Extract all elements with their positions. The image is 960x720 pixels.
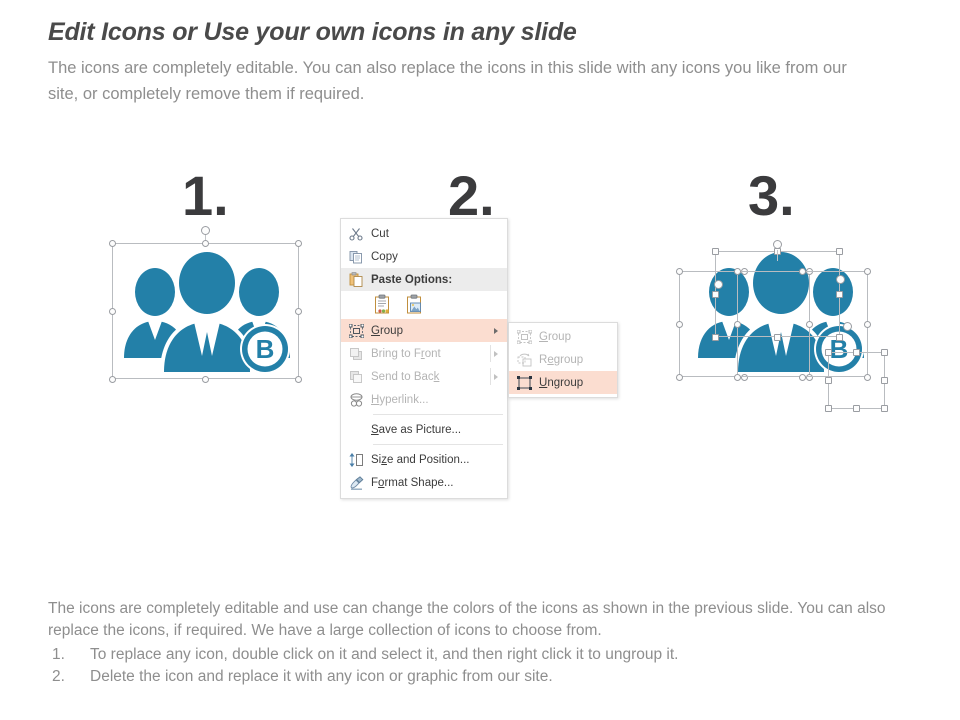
resize-handle-shape[interactable] (799, 374, 806, 381)
list-item-text: To replace any icon, double click on it … (90, 646, 678, 663)
chevron-right-icon (494, 374, 498, 380)
resize-handle-badge[interactable] (825, 405, 832, 412)
submenu-item-ungroup[interactable]: Ungroup (509, 371, 617, 394)
resize-handle-badge[interactable] (881, 377, 888, 384)
regroup-icon (509, 353, 539, 367)
menu-divider (373, 444, 503, 445)
slide-canvas: Edit Icons or Use your own icons in any … (0, 0, 960, 720)
page-subtitle: The icons are completely editable. You c… (48, 56, 878, 107)
menu-item-format-shape[interactable]: Format Shape... (341, 471, 507, 494)
menu-item-label: Cut (371, 228, 503, 240)
resize-handle-shape[interactable] (712, 248, 719, 255)
rotation-handle[interactable] (843, 322, 852, 331)
copy-icon (341, 250, 371, 264)
resize-handle-badge[interactable] (881, 405, 888, 412)
footer-list: 1. To replace any icon, double click on … (48, 644, 933, 689)
resize-handle-n[interactable] (202, 240, 209, 247)
list-item-number: 2. (52, 666, 65, 688)
resize-handle-badge[interactable] (853, 405, 860, 412)
hyperlink-icon (341, 393, 371, 407)
resize-handle-nw[interactable] (109, 240, 116, 247)
rotation-handle[interactable] (836, 275, 845, 284)
resize-handle-s[interactable] (202, 376, 209, 383)
submenu-item-label: Group (539, 331, 613, 343)
resize-handle-w[interactable] (109, 308, 116, 315)
menu-item-label: Bring to Front (371, 348, 494, 360)
resize-handle-shape[interactable] (734, 268, 741, 275)
resize-handle-badge[interactable] (853, 349, 860, 356)
group-submenu[interactable]: Group Regroup Ungroup (508, 322, 618, 398)
scissors-icon (341, 227, 371, 241)
menu-divider (373, 414, 503, 415)
ungroup-icon (509, 376, 539, 390)
selection-box-shape-badge[interactable] (828, 352, 885, 409)
footer-notes: The icons are completely editable and us… (48, 598, 933, 689)
list-item-text: Delete the icon and replace it with any … (90, 668, 553, 685)
menu-item-cut[interactable]: Cut (341, 222, 507, 245)
menu-divider (490, 345, 491, 362)
chevron-right-icon (494, 351, 498, 357)
menu-item-size-and-position[interactable]: Size and Position... (341, 448, 507, 471)
resize-handle-shape[interactable] (864, 321, 871, 328)
resize-handle-shape[interactable] (676, 268, 683, 275)
menu-item-paste-options[interactable]: Paste Options: (341, 268, 507, 291)
submenu-item-label: Regroup (539, 354, 613, 366)
menu-item-group[interactable]: Group (341, 319, 507, 342)
context-menu[interactable]: Cut Copy Paste Options: (340, 218, 508, 499)
step-number-3: 3. (748, 168, 795, 224)
rotation-handle[interactable] (201, 226, 210, 235)
menu-item-bring-to-front[interactable]: Bring to Front (341, 342, 507, 365)
submenu-item-group[interactable]: Group (509, 325, 617, 348)
menu-item-send-to-back[interactable]: Send to Back (341, 365, 507, 388)
paste-keep-formatting-icon[interactable] (374, 294, 393, 317)
send-to-back-icon (341, 370, 371, 384)
paste-options-icon-row[interactable] (341, 291, 507, 319)
menu-item-hyperlink[interactable]: Hyperlink... (341, 388, 507, 411)
step-number-1: 1. (182, 168, 229, 224)
list-item: 2. Delete the icon and replace it with a… (74, 666, 933, 688)
resize-handle-badge[interactable] (825, 349, 832, 356)
resize-handle-shape[interactable] (734, 321, 741, 328)
paste-as-picture-icon[interactable] (406, 294, 425, 317)
menu-item-copy[interactable]: Copy (341, 245, 507, 268)
resize-handle-e[interactable] (295, 308, 302, 315)
size-position-icon (341, 453, 371, 467)
menu-item-label: Group (371, 325, 494, 337)
rotation-handle[interactable] (773, 240, 782, 249)
menu-item-label: Send to Back (371, 371, 494, 383)
menu-item-label: Hyperlink... (371, 394, 503, 406)
resize-handle-shape[interactable] (676, 321, 683, 328)
menu-item-label: Paste Options: (371, 274, 503, 286)
rotation-stem (777, 250, 778, 261)
menu-item-label: Format Shape... (371, 477, 503, 489)
menu-item-label: Save as Picture... (371, 424, 503, 436)
resize-handle-shape[interactable] (864, 268, 871, 275)
footer-paragraph: The icons are completely editable and us… (48, 598, 928, 643)
header: Edit Icons or Use your own icons in any … (48, 18, 928, 107)
resize-handle-shape[interactable] (836, 248, 843, 255)
selection-box-grouped[interactable] (112, 243, 299, 379)
resize-handle-shape[interactable] (799, 268, 806, 275)
group-icon (341, 324, 371, 338)
submenu-item-regroup[interactable]: Regroup (509, 348, 617, 371)
page-title: Edit Icons or Use your own icons in any … (48, 18, 928, 47)
submenu-item-label: Ungroup (539, 377, 613, 389)
chevron-right-icon (494, 328, 498, 334)
step-number-2: 2. (448, 168, 495, 224)
resize-handle-se[interactable] (295, 376, 302, 383)
list-item: 1. To replace any icon, double click on … (74, 644, 933, 666)
resize-handle-shape[interactable] (734, 374, 741, 381)
paste-icon (341, 272, 371, 287)
resize-handle-badge[interactable] (825, 377, 832, 384)
resize-handle-ne[interactable] (295, 240, 302, 247)
rotation-handle[interactable] (714, 280, 723, 289)
menu-item-label: Copy (371, 251, 503, 263)
list-item-number: 1. (52, 644, 65, 666)
menu-item-save-as-picture[interactable]: Save as Picture... (341, 418, 507, 441)
format-shape-icon (341, 476, 371, 490)
resize-handle-shape[interactable] (676, 374, 683, 381)
menu-divider (490, 368, 491, 385)
resize-handle-badge[interactable] (881, 349, 888, 356)
bring-to-front-icon (341, 347, 371, 361)
group-icon (509, 330, 539, 344)
resize-handle-sw[interactable] (109, 376, 116, 383)
menu-item-label: Size and Position... (371, 454, 503, 466)
